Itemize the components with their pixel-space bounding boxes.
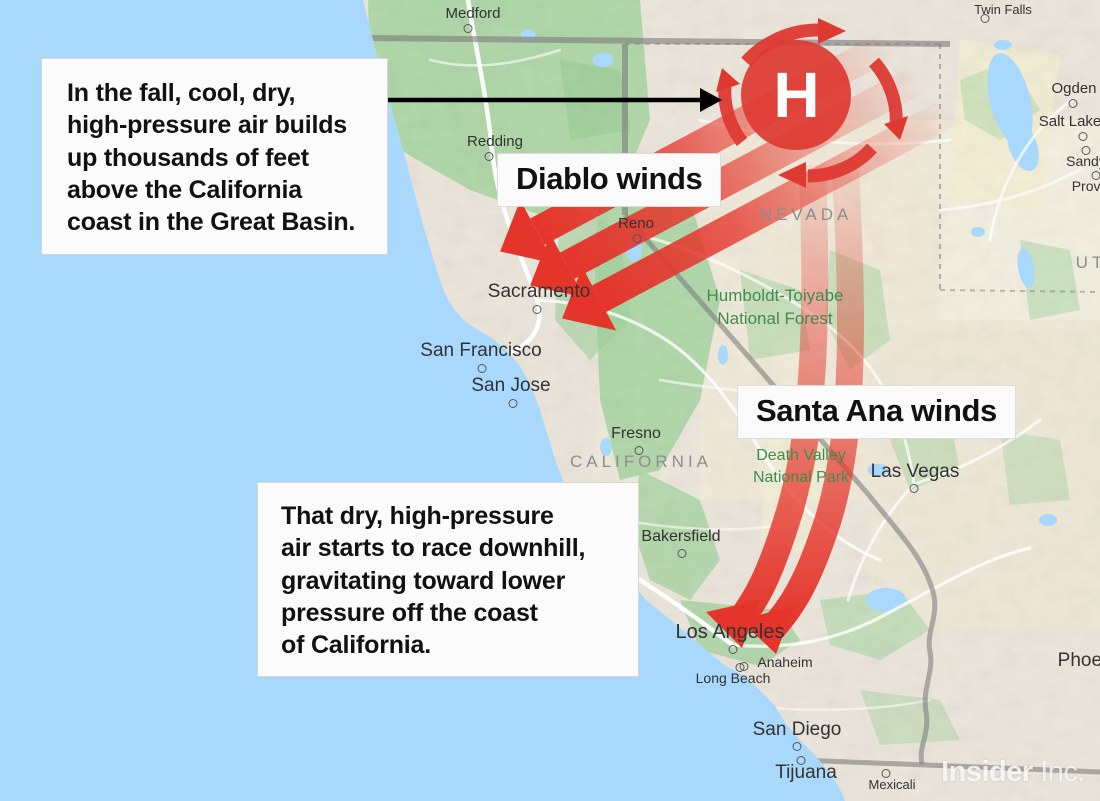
city-marker-medford [464, 24, 473, 33]
city-marker-provo [1092, 171, 1100, 180]
map-infographic: H MedfordReddingRenoSacramentoSan Franci… [0, 0, 1100, 801]
city-label-los-angeles: Los Angeles [676, 621, 785, 644]
city-marker-redding [485, 152, 494, 161]
city-marker-san-jose [509, 399, 518, 408]
city-marker-salt-lake [1079, 132, 1088, 141]
city-label-salt-lake: Salt Lake [1039, 113, 1100, 130]
park-label-humboldt-toiyabe: Humboldt-ToiyabeNational Forest [706, 285, 843, 331]
city-label-las-vegas: Las Vegas [871, 461, 960, 483]
region-label-nevada: NEVADA [760, 205, 853, 225]
city-marker-reno [633, 234, 642, 243]
high-pressure-letter: H [773, 63, 818, 127]
callout-bottom-text: That dry, high-pressureair starts to rac… [281, 500, 622, 661]
city-marker-twin-falls [981, 14, 990, 23]
city-marker-bakersfield [678, 549, 687, 558]
label-santa-ana-winds: Santa Ana winds [737, 385, 1016, 439]
park-label-death-valley: Death ValleyNational Park [753, 445, 849, 488]
callout-top-text: In the fall, cool, dry,high-pressure air… [67, 77, 371, 238]
city-label-ogden: Ogden [1051, 80, 1096, 97]
city-label-sandy: Sandy [1066, 153, 1100, 169]
watermark-bold: Insider [941, 756, 1033, 788]
city-label-phoenix: Phoenix [1058, 650, 1100, 672]
city-label-mexicali: Mexicali [869, 777, 916, 792]
city-label-sacramento: Sacramento [488, 281, 590, 303]
city-label-provo: Provo [1072, 178, 1100, 194]
callout-box-downhill: That dry, high-pressureair starts to rac… [257, 482, 639, 677]
watermark-light: Inc. [1033, 756, 1085, 788]
city-label-anaheim: Anaheim [757, 654, 812, 670]
insider-watermark: Insider Inc. [941, 756, 1085, 789]
region-label-california: CALIFORNIA [570, 452, 712, 472]
city-marker-mexicali [882, 769, 891, 778]
label-diablo-winds: Diablo winds [497, 153, 721, 207]
callout-box-high-pressure: In the fall, cool, dry,high-pressure air… [41, 58, 388, 255]
city-label-bakersfield: Bakersfield [641, 528, 720, 546]
city-marker-long-beach [736, 663, 745, 672]
city-marker-los-angeles [729, 645, 738, 654]
city-label-san-jose: San Jose [471, 375, 550, 397]
city-label-medford: Medford [445, 5, 500, 22]
city-marker-las-vegas [910, 484, 919, 493]
city-label-tijuana: Tijuana [775, 762, 837, 784]
city-marker-sacramento [533, 305, 542, 314]
city-label-reno: Reno [618, 215, 654, 232]
city-label-san-diego: San Diego [753, 719, 842, 741]
city-marker-san-diego [793, 742, 802, 751]
city-marker-ogden [1069, 99, 1078, 108]
city-marker-sandy [1082, 146, 1091, 155]
city-label-san-francisco: San Francisco [420, 340, 541, 362]
city-label-redding: Redding [467, 133, 523, 150]
city-label-fresno: Fresno [611, 425, 661, 443]
city-label-long-beach: Long Beach [696, 670, 771, 686]
city-marker-san-francisco [478, 364, 487, 373]
region-label-ut: UT [1076, 253, 1100, 273]
city-marker-tijuana [797, 756, 806, 765]
